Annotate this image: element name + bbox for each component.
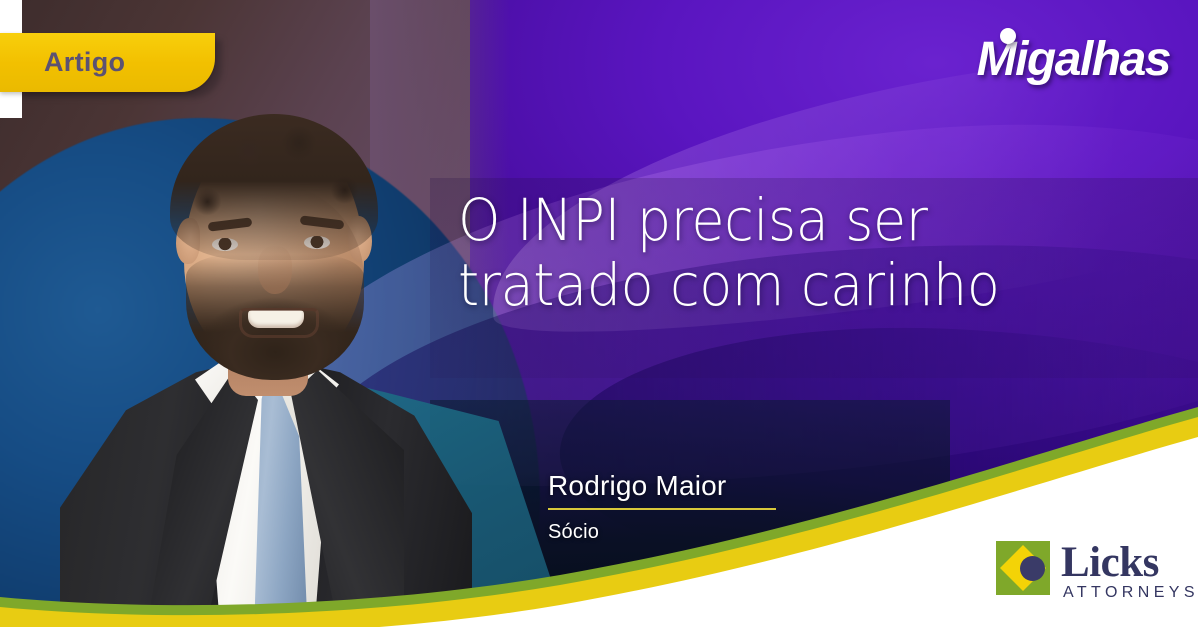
article-type-badge[interactable]: Artigo (0, 33, 215, 92)
brazil-flag-globe-icon (996, 541, 1050, 595)
hair (170, 114, 378, 260)
flag-globe-shape (1020, 556, 1045, 581)
portrait-photo (52, 88, 482, 627)
headline-line-2: tratado com carinho (458, 253, 1109, 318)
migalhas-logo[interactable]: Migalhas (977, 36, 1170, 84)
firm-name: Licks (1061, 541, 1198, 584)
licks-wordmark: Licks ATTORNEYS (1061, 541, 1198, 601)
author-name: Rodrigo Maior (548, 470, 878, 502)
migalhas-dot-icon (1000, 28, 1016, 44)
byline-divider (548, 508, 776, 510)
article-promo-banner: Artigo Migalhas O INPI precisa ser trata… (0, 0, 1198, 627)
author-role: Sócio (548, 521, 878, 544)
headline-line-1: O INPI precisa ser (458, 188, 1109, 253)
article-headline: O INPI precisa ser tratado com carinho (458, 188, 1109, 318)
article-type-badge-label: Artigo (44, 47, 125, 78)
licks-attorneys-logo[interactable]: Licks ATTORNEYS (996, 541, 1198, 601)
byline: Rodrigo Maior Sócio (548, 470, 878, 544)
smile (248, 310, 304, 328)
firm-tagline: ATTORNEYS (1063, 585, 1198, 601)
